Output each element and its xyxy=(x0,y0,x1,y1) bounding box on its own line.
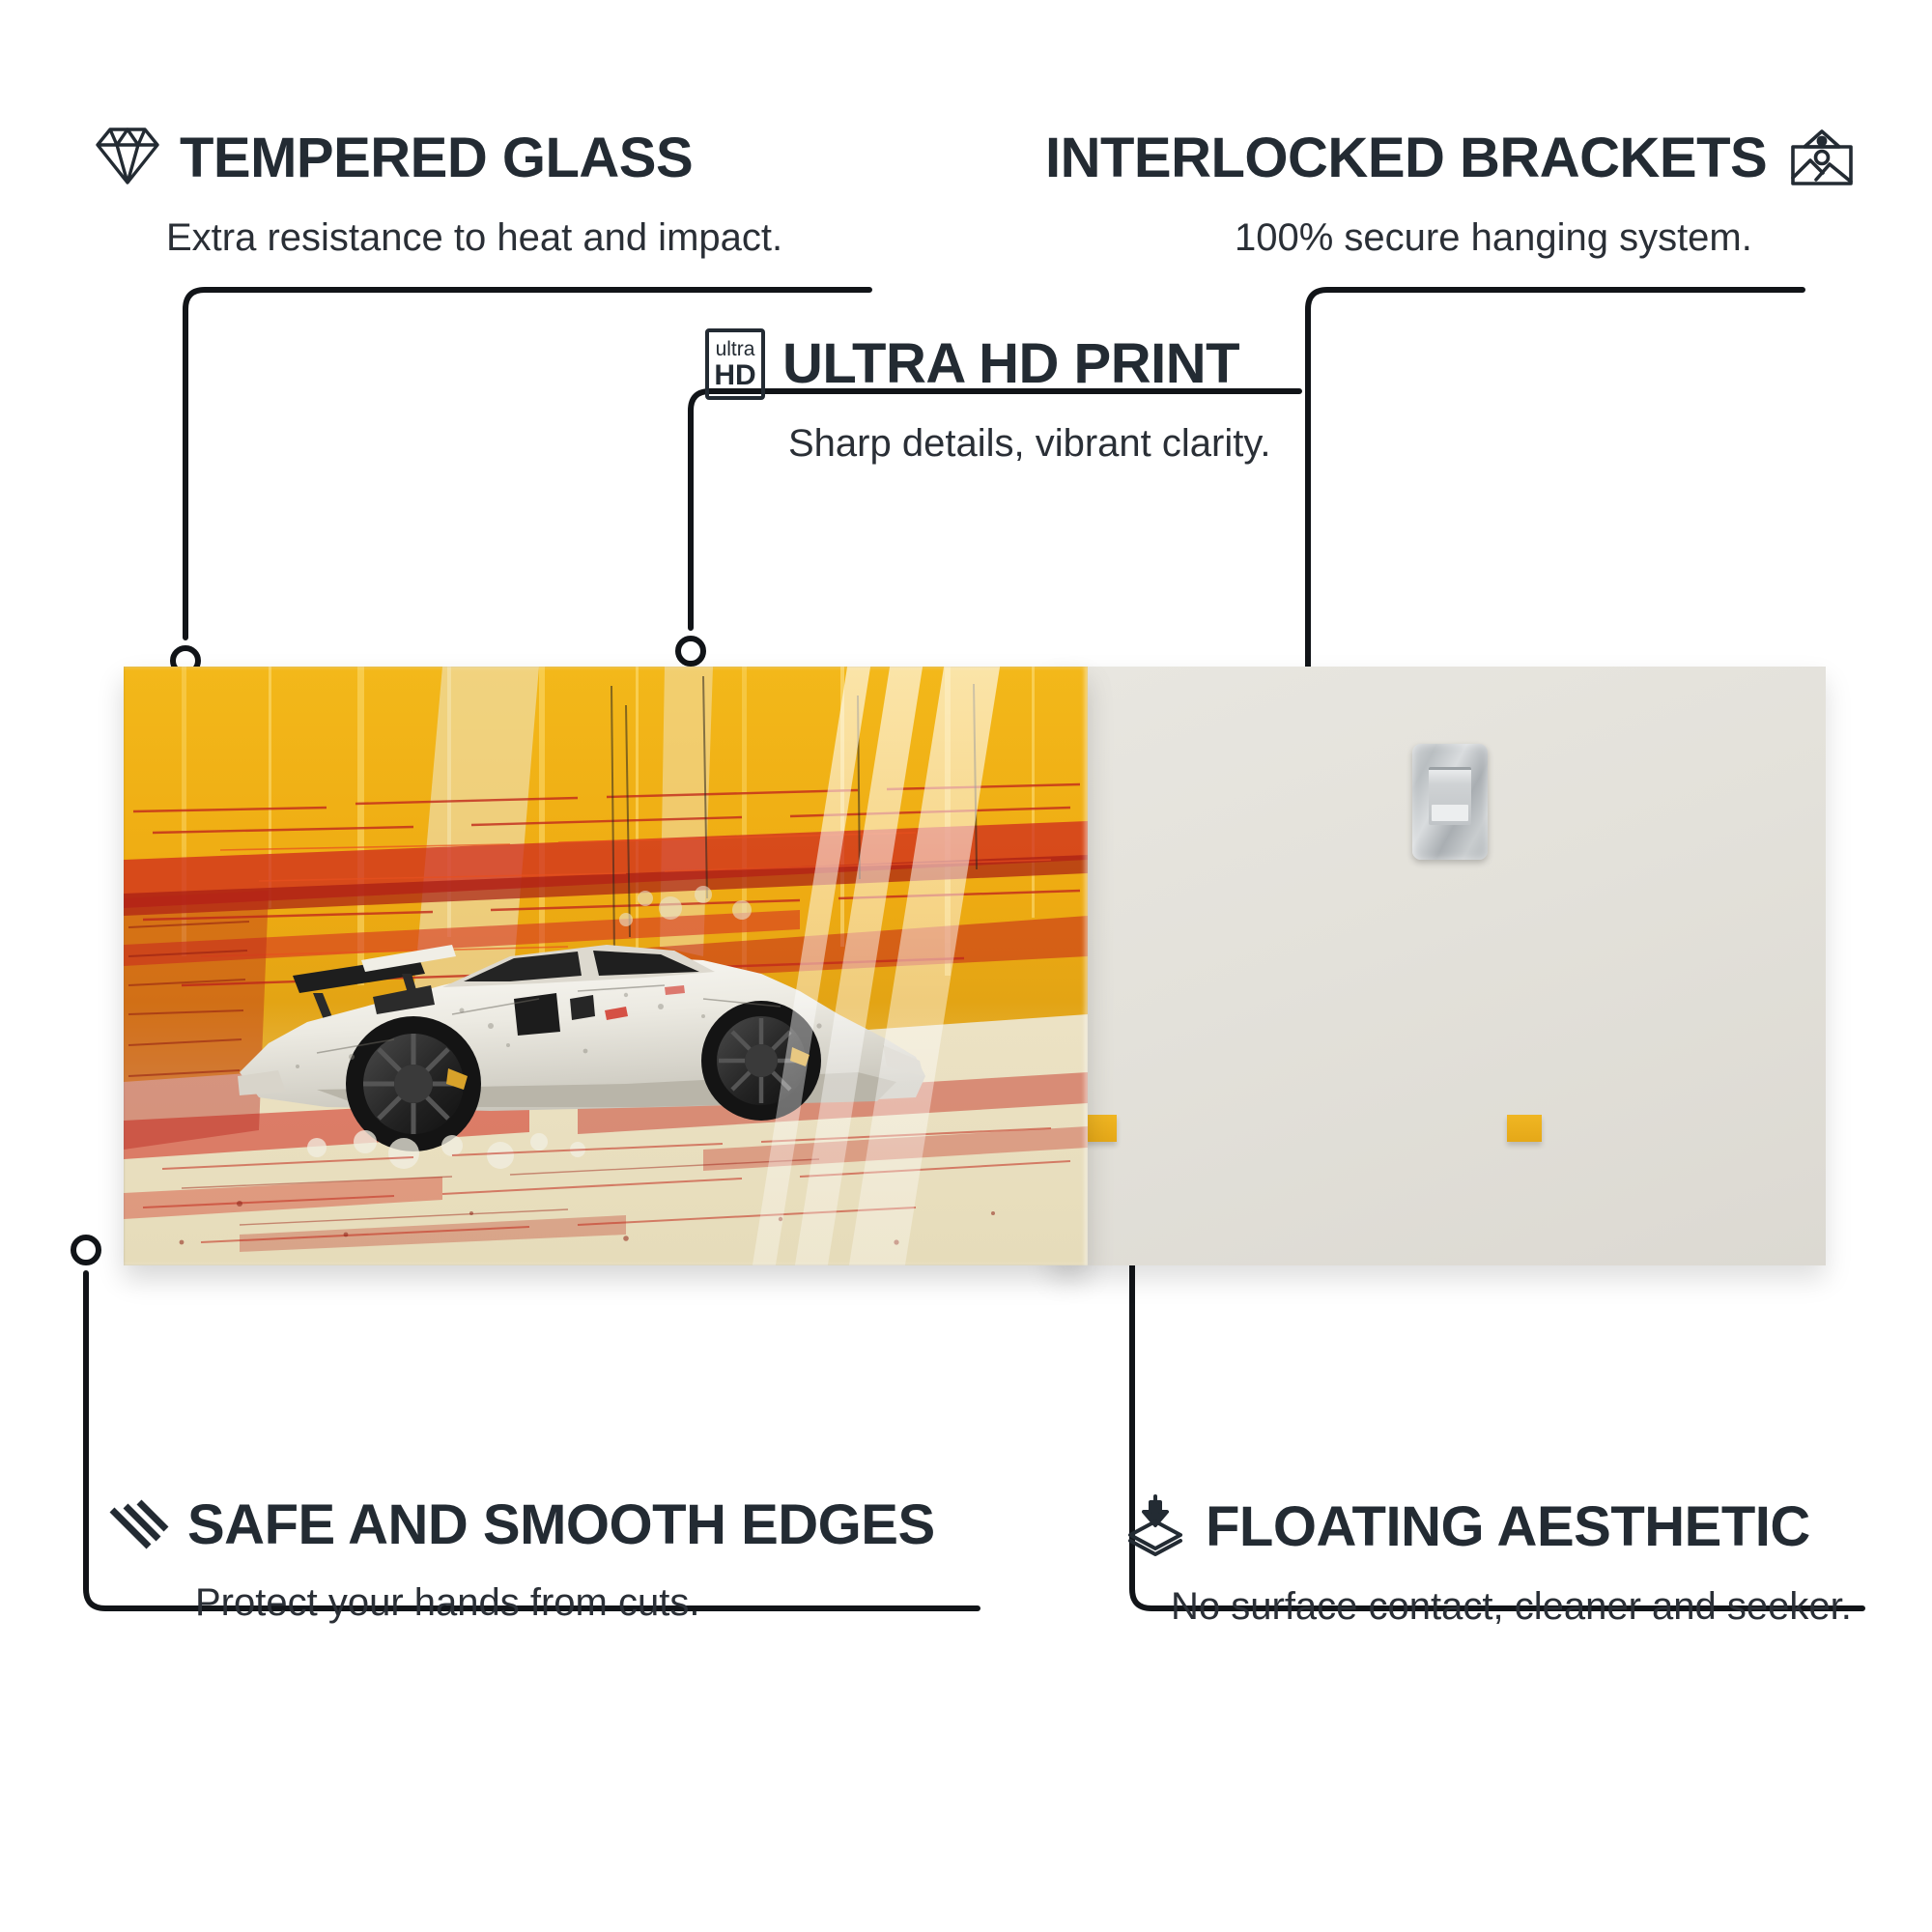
feature-title: ULTRA HD PRINT xyxy=(782,336,1239,392)
feature-heading-row: INTERLOCKED BRACKETS xyxy=(1045,122,1860,194)
feature-heading-row: TEMPERED GLASS xyxy=(93,122,782,194)
feature-subtitle: Sharp details, vibrant clarity. xyxy=(788,421,1270,466)
artwork-graphic xyxy=(124,667,1088,1265)
ultra-hd-badge-line1: ultra xyxy=(716,339,755,359)
feature-title: SAFE AND SMOOTH EDGES xyxy=(187,1497,935,1553)
infographic-canvas: TEMPERED GLASS Extra resistance to heat … xyxy=(0,0,1932,1932)
glass-panel-back-side xyxy=(1051,667,1826,1265)
connector-dot-ultra-hd xyxy=(678,639,703,664)
feature-subtitle: Protect your hands from cuts. xyxy=(195,1580,935,1625)
ultra-hd-badge-icon: ultra HD xyxy=(705,328,765,400)
connector-interlocked-brackets xyxy=(1308,290,1803,699)
feature-subtitle: No surface contact, cleaner and seeker. xyxy=(1171,1584,1852,1629)
feature-ultra-hd-print: ultra HD ULTRA HD PRINT Sharp details, v… xyxy=(705,328,1270,466)
interlocked-bracket-plate xyxy=(1412,744,1488,860)
feature-heading-row: FLOATING AESTHETIC xyxy=(1122,1492,1852,1561)
feature-title: FLOATING AESTHETIC xyxy=(1206,1499,1810,1555)
feature-title: TEMPERED GLASS xyxy=(180,130,693,186)
printed-glass-artwork xyxy=(124,667,1088,1265)
connector-dot-safe-smooth-edges xyxy=(73,1237,99,1263)
ultra-hd-badge-line2: HD xyxy=(714,361,755,390)
feature-safe-and-smooth-edges: SAFE AND SMOOTH EDGES Protect your hands… xyxy=(106,1492,935,1625)
feature-floating-aesthetic: FLOATING AESTHETIC No surface contact, c… xyxy=(1122,1492,1852,1629)
feature-subtitle: 100% secure hanging system. xyxy=(1235,215,1860,260)
down-arrow-on-platform-icon xyxy=(1122,1492,1188,1561)
bracket-keyhole-slot xyxy=(1429,767,1471,825)
feature-tempered-glass: TEMPERED GLASS Extra resistance to heat … xyxy=(93,122,782,260)
feature-interlocked-brackets: INTERLOCKED BRACKETS 100% secure hanging… xyxy=(1045,122,1860,260)
beveled-edge-lines-icon xyxy=(106,1492,170,1557)
feature-title: INTERLOCKED BRACKETS xyxy=(1045,130,1767,186)
feature-heading-row: SAFE AND SMOOTH EDGES xyxy=(106,1492,935,1557)
picture-frame-hanging-icon xyxy=(1784,122,1860,194)
product-illustration xyxy=(124,667,1826,1265)
feature-heading-row: ultra HD ULTRA HD PRINT xyxy=(705,328,1270,400)
spacer-pad-right xyxy=(1507,1115,1542,1142)
diamond-icon xyxy=(93,122,162,194)
feature-subtitle: Extra resistance to heat and impact. xyxy=(166,215,782,260)
